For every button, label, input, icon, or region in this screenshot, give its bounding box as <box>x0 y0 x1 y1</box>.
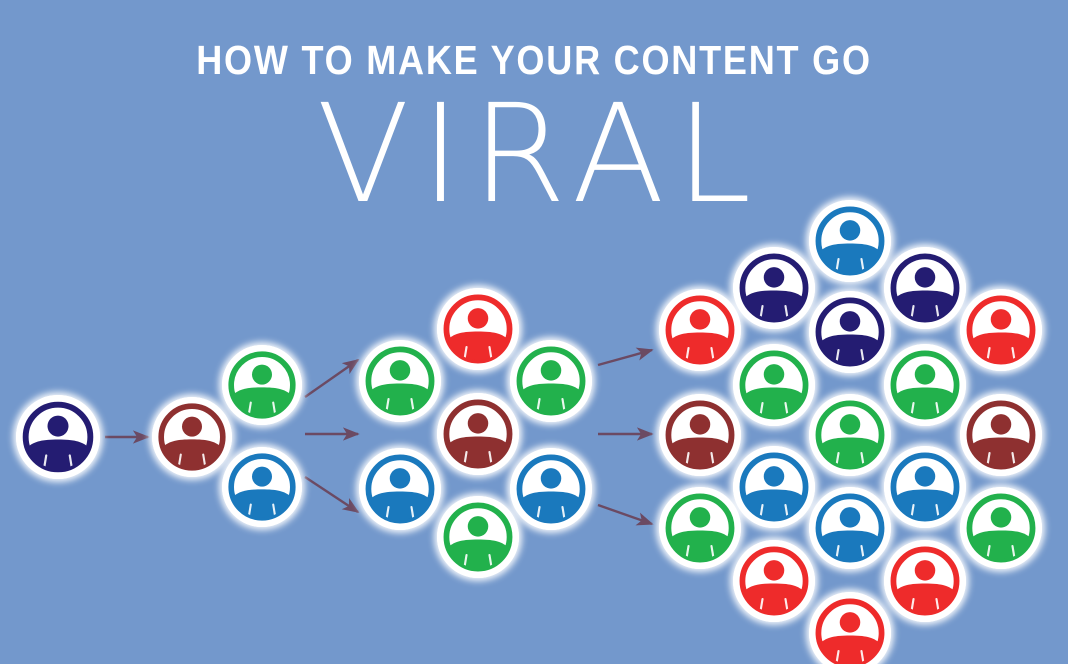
person-avatar-icon <box>733 247 815 329</box>
person-avatar-icon <box>809 487 891 569</box>
person-node-red <box>659 289 741 371</box>
person-node-green <box>222 345 302 425</box>
person-avatar-icon <box>437 496 519 578</box>
person-node-maroon <box>437 393 519 475</box>
person-node-maroon <box>659 394 741 476</box>
person-avatar-icon <box>510 340 592 422</box>
person-node-blue <box>884 446 966 528</box>
person-node-green <box>510 340 592 422</box>
person-avatar-icon <box>659 487 741 569</box>
person-avatar-icon <box>510 448 592 530</box>
person-node-maroon <box>152 397 232 477</box>
person-node-blue <box>510 448 592 530</box>
person-avatar-icon <box>884 446 966 528</box>
person-avatar-icon <box>809 200 891 282</box>
viral-infographic-poster: HOW TO MAKE YOUR CONTENT GO VIRAL <box>0 0 1068 664</box>
person-node-blue <box>809 200 891 282</box>
person-avatar-icon <box>809 394 891 476</box>
spread-arrow <box>305 360 358 397</box>
person-avatar-icon <box>884 344 966 426</box>
person-node-blue <box>733 446 815 528</box>
person-avatar-icon <box>437 288 519 370</box>
spread-arrow <box>598 505 652 524</box>
person-node-blue <box>359 448 441 530</box>
person-node-navy <box>733 247 815 329</box>
person-avatar-icon <box>16 395 100 479</box>
person-node-maroon <box>960 394 1042 476</box>
person-avatar-icon <box>809 291 891 373</box>
person-node-red <box>884 540 966 622</box>
person-node-red <box>437 288 519 370</box>
person-avatar-icon <box>733 344 815 426</box>
person-node-green <box>809 394 891 476</box>
person-avatar-icon <box>733 446 815 528</box>
person-avatar-icon <box>809 592 891 664</box>
person-node-green <box>437 496 519 578</box>
person-avatar-icon <box>659 289 741 371</box>
person-node-blue <box>222 447 302 527</box>
spread-arrow <box>305 477 358 512</box>
person-avatar-icon <box>884 540 966 622</box>
person-avatar-icon <box>960 289 1042 371</box>
person-avatar-icon <box>437 393 519 475</box>
person-node-red <box>960 289 1042 371</box>
person-node-navy <box>16 395 100 479</box>
person-avatar-icon <box>152 397 232 477</box>
spread-arrow <box>598 350 652 365</box>
person-node-red <box>733 540 815 622</box>
person-node-green <box>733 344 815 426</box>
person-node-blue <box>809 487 891 569</box>
person-avatar-icon <box>659 394 741 476</box>
viral-spread-network <box>0 0 1068 664</box>
person-node-green <box>884 344 966 426</box>
person-node-green <box>359 340 441 422</box>
person-node-red <box>809 592 891 664</box>
person-node-green <box>960 487 1042 569</box>
person-avatar-icon <box>359 340 441 422</box>
person-node-green <box>659 487 741 569</box>
person-avatar-icon <box>960 394 1042 476</box>
person-avatar-icon <box>359 448 441 530</box>
person-node-navy <box>809 291 891 373</box>
person-node-navy <box>884 247 966 329</box>
person-avatar-icon <box>222 345 302 425</box>
person-avatar-icon <box>960 487 1042 569</box>
person-avatar-icon <box>222 447 302 527</box>
person-avatar-icon <box>733 540 815 622</box>
person-avatar-icon <box>884 247 966 329</box>
